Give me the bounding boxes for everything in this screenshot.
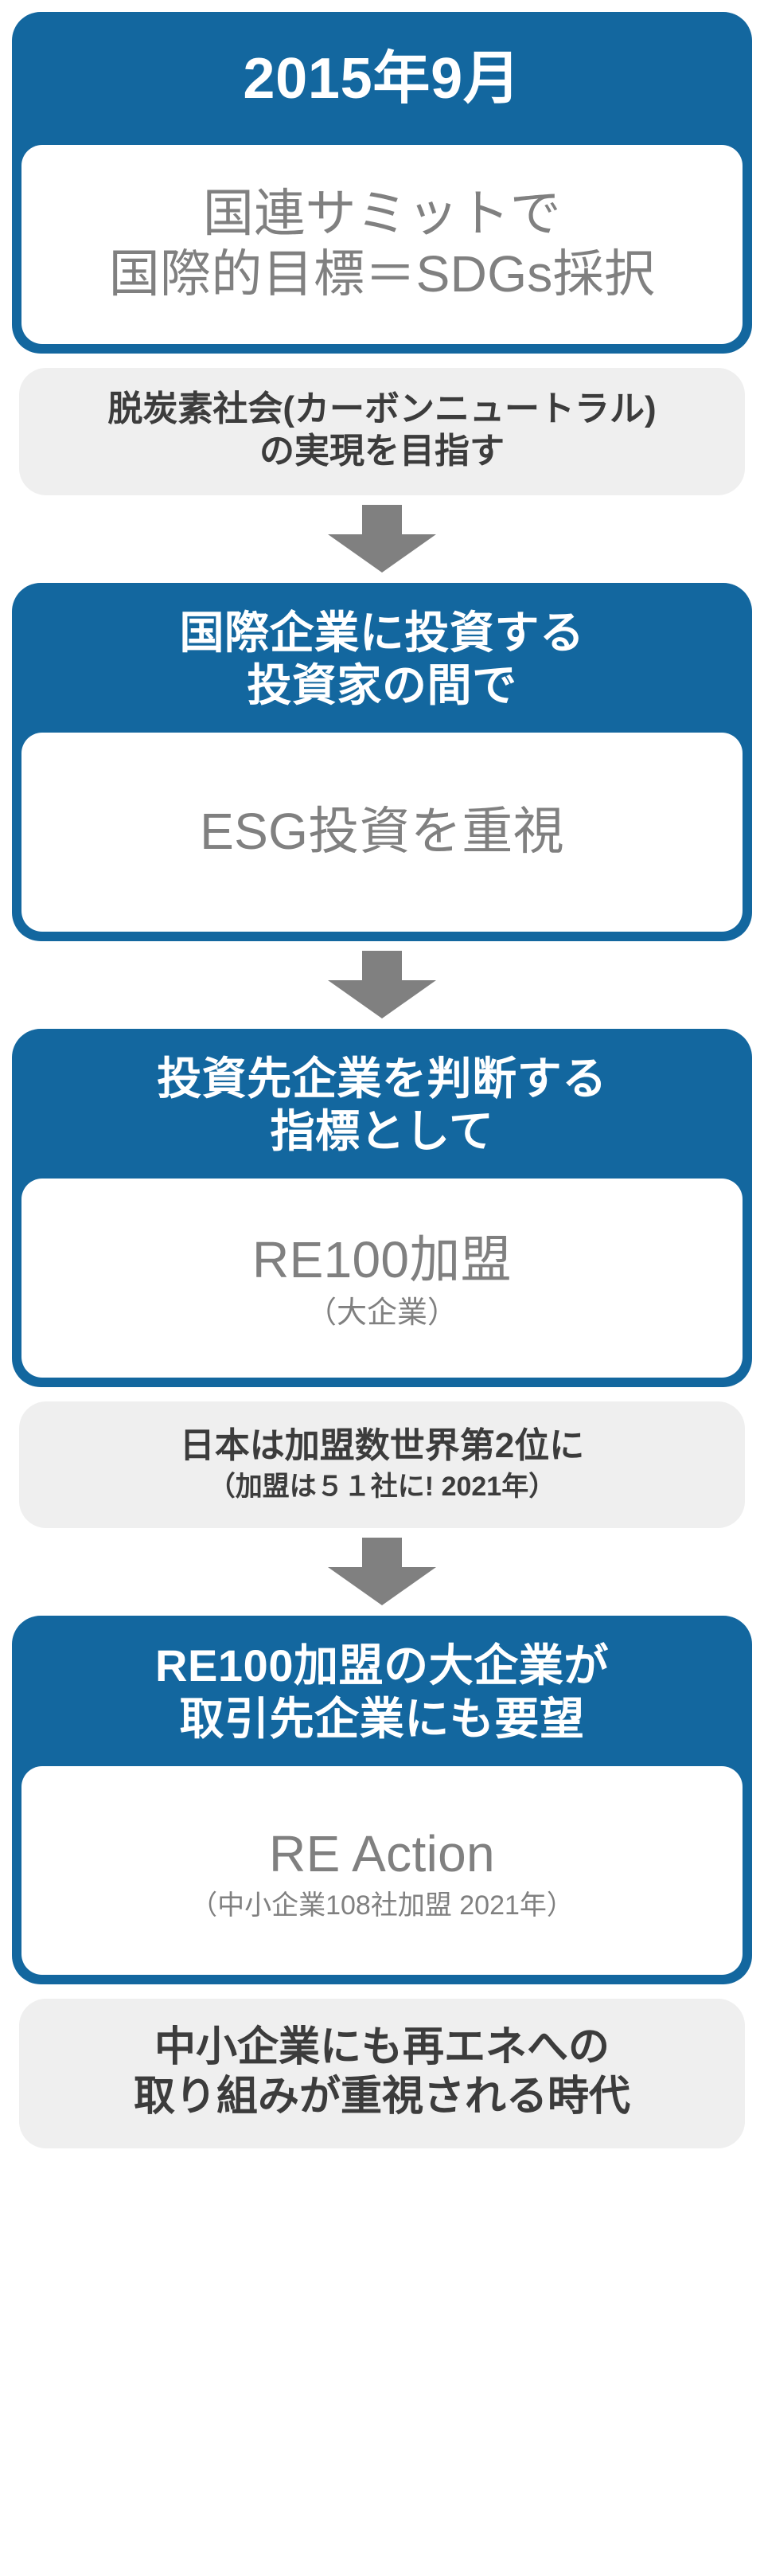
step-card-sdgs-body-line2: 国際的目標＝SDGs採択 <box>109 244 656 305</box>
step-card-re100-heading: 投資先企業を判断する 指標として <box>12 1029 752 1179</box>
note-decarbonization: 脱炭素社会(カーボンニュートラル) の実現を目指す <box>19 368 745 495</box>
step-card-re100-heading-line1: 投資先企業を判断する <box>31 1053 733 1105</box>
step-card-re-action-body: RE Action （中小企業108社加盟 2021年） <box>21 1766 743 1975</box>
note-japan-rank-line1: 日本は加盟数世界第2位に <box>37 1425 727 1468</box>
step-card-esg-body: ESG投資を重視 <box>21 733 743 932</box>
spacer <box>12 354 752 368</box>
step-card-esg: 国際企業に投資する 投資家の間で ESG投資を重視 <box>12 583 752 941</box>
step-card-re-action-body-sub: （中小企業108社加盟 2021年） <box>190 1890 574 1922</box>
step-card-re100-body-sub: （大企業） <box>306 1296 458 1332</box>
step-card-esg-heading-line1: 国際企業に投資する <box>31 607 733 659</box>
arrow-down-icon-1 <box>326 505 438 573</box>
step-card-re-action-heading: RE100加盟の大企業が 取引先企業にも要望 <box>12 1616 752 1765</box>
step-card-re100-body-main: RE100加盟 <box>252 1230 512 1291</box>
step-card-re-action-body-main: RE Action <box>269 1824 495 1885</box>
spacer <box>12 1387 752 1401</box>
note-sme-renewable-era: 中小企業にも再エネへの 取り組みが重視される時代 <box>19 1999 745 2149</box>
step-card-re100-heading-line2: 指標として <box>31 1105 733 1158</box>
step-card-esg-heading: 国際企業に投資する 投資家の間で <box>12 583 752 733</box>
arrow-down-icon-2 <box>326 951 438 1019</box>
note-decarbonization-line1: 脱炭素社会(カーボンニュートラル) <box>37 389 727 431</box>
note-japan-rank-sub: （加盟は５１社に! 2021年） <box>37 1471 727 1503</box>
step-card-sdgs-body: 国連サミットで 国際的目標＝SDGs採択 <box>21 145 743 344</box>
step-card-sdgs: 2015年9月 国連サミットで 国際的目標＝SDGs採択 <box>12 12 752 354</box>
spacer <box>12 1984 752 1999</box>
note-sme-renewable-era-line2: 取り組みが重視される時代 <box>37 2072 727 2121</box>
note-japan-rank: 日本は加盟数世界第2位に （加盟は５１社に! 2021年） <box>19 1401 745 1529</box>
step-card-re-action-heading-line2: 取引先企業にも要望 <box>31 1693 733 1745</box>
sdgs-re100-flow-diagram: 2015年9月 国連サミットで 国際的目標＝SDGs採択 脱炭素社会(カーボンニ… <box>0 0 764 2576</box>
step-card-esg-body-main: ESG投資を重視 <box>200 802 564 862</box>
step-card-re-action: RE100加盟の大企業が 取引先企業にも要望 RE Action （中小企業10… <box>12 1616 752 1984</box>
step-card-re100-body: RE100加盟 （大企業） <box>21 1179 743 1378</box>
step-card-re100: 投資先企業を判断する 指標として RE100加盟 （大企業） <box>12 1029 752 1387</box>
step-card-sdgs-heading: 2015年9月 <box>12 12 752 145</box>
note-decarbonization-line2: の実現を目指す <box>37 431 727 473</box>
arrow-down-icon-3 <box>326 1538 438 1606</box>
note-sme-renewable-era-line1: 中小企業にも再エネへの <box>37 2023 727 2072</box>
step-card-esg-heading-line2: 投資家の間で <box>31 659 733 712</box>
step-card-sdgs-body-line1: 国連サミットで <box>203 184 561 244</box>
step-card-re-action-heading-line1: RE100加盟の大企業が <box>31 1640 733 1692</box>
